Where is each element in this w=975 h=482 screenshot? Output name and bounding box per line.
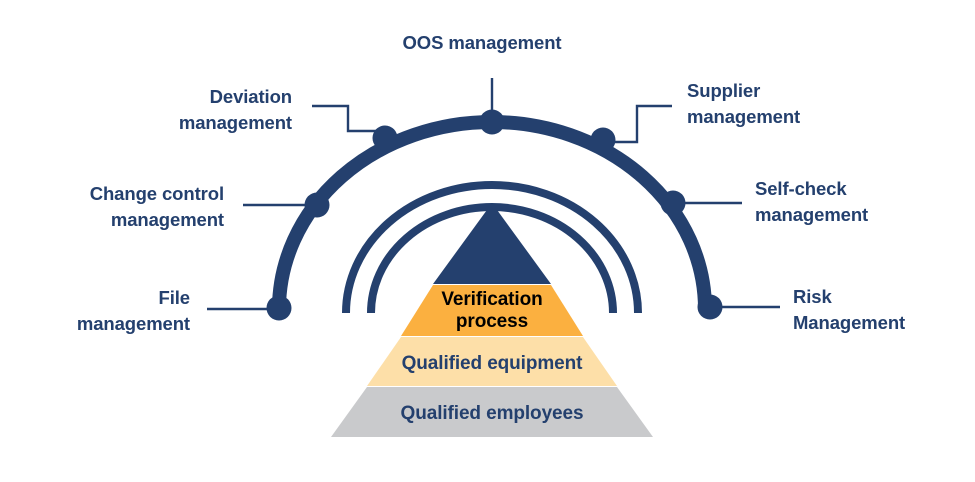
label-deviation-management-line1: Deviation <box>210 86 292 107</box>
label-risk-management-line2: Management <box>793 312 905 333</box>
label-file-management[interactable]: File management <box>77 287 190 334</box>
pyramid-label-qualified-employees: Qualified employees <box>401 403 584 424</box>
label-oos-management[interactable]: OOS management <box>403 32 562 53</box>
label-oos-management-line1: OOS management <box>403 32 562 53</box>
label-deviation-management-line2: management <box>179 112 292 133</box>
label-self-check-management[interactable]: Self-check management <box>755 178 868 225</box>
label-file-management-line1: File <box>159 287 190 308</box>
label-change-control-management-line1: Change control <box>90 183 224 204</box>
arc-node-file-management[interactable] <box>267 296 292 321</box>
label-change-control-management[interactable]: Change control management <box>90 183 224 230</box>
label-risk-management[interactable]: Risk Management <box>793 286 905 333</box>
label-supplier-management[interactable]: Supplier management <box>687 80 800 127</box>
arc-node-risk-management[interactable] <box>698 295 723 320</box>
arc-node-self-check-management[interactable] <box>661 191 686 216</box>
leader-line-deviation-management <box>312 106 385 131</box>
arc-node-change-control-management[interactable] <box>305 193 330 218</box>
pyramid-label-qualified-equipment: Qualified equipment <box>402 353 583 374</box>
pyramid-label-verification-process-line1: Verification <box>441 289 542 310</box>
diagram-canvas: Verification process Qualified equipment… <box>0 0 975 482</box>
label-file-management-line2: management <box>77 313 190 334</box>
arc-node-deviation-management[interactable] <box>373 126 398 151</box>
quality-pyramid-diagram: Verification process Qualified equipment… <box>0 0 975 482</box>
label-self-check-management-line2: management <box>755 204 868 225</box>
label-deviation-management[interactable]: Deviation management <box>179 86 292 133</box>
label-supplier-management-line1: Supplier <box>687 80 760 101</box>
label-change-control-management-line2: management <box>111 209 224 230</box>
arc-node-supplier-management[interactable] <box>591 128 616 153</box>
arc-node-oos-management[interactable] <box>480 110 505 135</box>
label-supplier-management-line2: management <box>687 106 800 127</box>
pyramid-label-verification-process-line2: process <box>456 311 528 332</box>
label-risk-management-line1: Risk <box>793 286 832 307</box>
label-self-check-management-line1: Self-check <box>755 178 847 199</box>
